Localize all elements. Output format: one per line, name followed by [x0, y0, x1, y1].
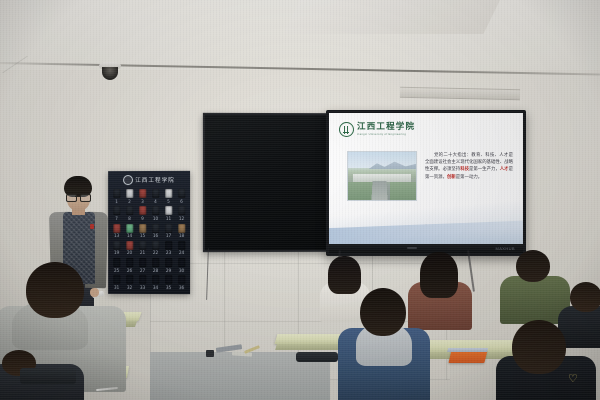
classroom-photo: 江西工程学院 Jiangxi University of Engineering… — [0, 0, 600, 400]
pocket-slot-4[interactable]: 4 — [149, 188, 162, 205]
pocket-number: 3 — [141, 200, 144, 204]
pocket-slot-3[interactable]: 3 — [136, 188, 149, 205]
stored-phone — [126, 241, 133, 250]
organizer-header: 江西工程学院 — [108, 171, 190, 188]
pocket-slot-19[interactable]: 19 — [110, 240, 123, 257]
stored-phone — [139, 206, 146, 215]
student-head — [26, 262, 84, 318]
stored-phone — [139, 189, 146, 198]
slide-text-lead: 党的二十大指出：教育、科 — [434, 153, 490, 158]
pocket-slot-14[interactable]: 14 — [123, 223, 136, 240]
pocket-slot-22[interactable]: 22 — [149, 240, 162, 257]
pocket-number: 35 — [166, 286, 171, 290]
pocket-number: 28 — [153, 269, 158, 273]
photo-central-road — [372, 181, 388, 200]
pocket-number: 34 — [153, 286, 158, 290]
slide-body-text: 党的二十大指出：教育、科技、人才是全面建设社会主义现代化国家的基础性、战略性支撑… — [425, 152, 513, 181]
stored-phone — [152, 241, 160, 250]
pocket-slot-7[interactable]: 7 — [110, 205, 123, 222]
stored-phone — [165, 276, 173, 285]
stored-phone — [178, 276, 186, 285]
pocket-number: 19 — [114, 251, 119, 255]
pocket-number: 11 — [166, 217, 171, 221]
pocket-slot-5[interactable]: 5 — [162, 188, 175, 205]
organizer-seal-icon — [123, 175, 133, 185]
stored-phone — [178, 241, 186, 250]
organizer-pocket-grid: 1234567891011121314151617181920212223242… — [108, 188, 190, 292]
ceiling-soffit — [283, 0, 500, 34]
student-bottom-right-heart: ♡ — [506, 320, 584, 400]
pocket-slot-15[interactable]: 15 — [136, 223, 149, 240]
slide-text-line5-end: 是第一动力。 — [456, 175, 482, 180]
heart-icon: ♡ — [568, 374, 579, 384]
pocket-slot-27[interactable]: 27 — [136, 257, 149, 274]
pocket-slot-20[interactable]: 20 — [123, 240, 136, 257]
pocket-slot-18[interactable]: 18 — [175, 223, 188, 240]
pocket-number: 6 — [180, 200, 183, 204]
stored-phone — [165, 241, 173, 250]
pocket-number: 7 — [115, 217, 118, 221]
stored-phone — [152, 224, 160, 233]
stored-phone — [152, 275, 160, 284]
instructor-lapel-badge — [90, 224, 94, 229]
orange-notebook[interactable] — [448, 350, 487, 363]
pocket-number: 18 — [179, 234, 184, 238]
pocket-number: 8 — [128, 217, 131, 221]
pocket-slot-13[interactable]: 13 — [110, 223, 123, 240]
pocket-number: 4 — [154, 200, 157, 204]
stored-phone — [178, 258, 186, 267]
pocket-slot-36[interactable]: 36 — [175, 275, 188, 292]
pocket-number: 2 — [128, 200, 131, 204]
pocket-slot-35[interactable]: 35 — [162, 275, 175, 292]
floor-adapter-box — [206, 350, 214, 357]
pocket-number: 33 — [140, 286, 145, 290]
pocket-slot-29[interactable]: 29 — [162, 257, 175, 274]
chair-front-left — [20, 368, 76, 384]
pocket-slot-24[interactable]: 24 — [175, 240, 188, 257]
pocket-number: 5 — [167, 200, 170, 204]
stored-phone — [139, 275, 146, 284]
pocket-slot-11[interactable]: 11 — [162, 205, 175, 222]
stored-phone — [178, 206, 186, 215]
pocket-number: 17 — [166, 234, 171, 238]
stored-phone — [139, 224, 146, 233]
student-head — [512, 320, 566, 374]
screen-surface[interactable]: 江西工程学院 Jiangxi University of Engineering… — [329, 113, 523, 244]
slide-university-logo: 江西工程学院 Jiangxi University of Engineering — [339, 122, 415, 137]
student-maroon-sweater-center — [412, 252, 468, 312]
student-olive-jacket-right — [506, 250, 562, 310]
pocket-slot-32[interactable]: 32 — [123, 274, 136, 291]
photo-lawn-left — [348, 182, 374, 200]
university-name-en: Jiangxi University of Engineering — [357, 133, 415, 136]
eyeglasses-icon — [66, 194, 91, 200]
slide-text-line4-mid: 是第一生产力， — [469, 167, 500, 172]
stored-phone — [165, 206, 173, 215]
camera-dome-lens — [102, 67, 118, 80]
university-name-cn: 江西工程学院 — [357, 123, 415, 132]
pocket-number: 14 — [127, 234, 132, 238]
pocket-slot-1[interactable]: 1 — [110, 188, 123, 205]
pocket-number: 23 — [166, 252, 171, 256]
stored-phone — [165, 189, 173, 198]
dome-security-camera — [99, 62, 121, 82]
pocket-slot-9[interactable]: 9 — [136, 205, 149, 222]
student-head — [516, 250, 550, 282]
stored-phone — [178, 224, 186, 233]
pocket-slot-12[interactable]: 12 — [175, 205, 188, 222]
photo-lawn-right — [390, 182, 416, 200]
chair-center — [296, 352, 338, 362]
stored-phone — [139, 241, 146, 250]
pocket-number: 10 — [153, 217, 158, 221]
pocket-slot-6[interactable]: 6 — [175, 188, 188, 205]
stored-phone — [126, 258, 133, 267]
stored-phone — [152, 189, 160, 198]
pocket-slot-26[interactable]: 26 — [123, 257, 136, 274]
pocket-slot-23[interactable]: 23 — [162, 240, 175, 257]
stored-phone — [126, 275, 133, 284]
stored-phone — [139, 258, 146, 267]
pocket-slot-17[interactable]: 17 — [162, 223, 175, 240]
pocket-slot-2[interactable]: 2 — [123, 188, 136, 205]
pocket-slot-30[interactable]: 30 — [175, 257, 188, 274]
stored-phone — [126, 224, 133, 233]
student-head — [360, 288, 406, 336]
slide-campus-photo — [347, 151, 417, 201]
pocket-slot-34[interactable]: 34 — [149, 274, 162, 291]
university-seal-icon — [339, 122, 354, 137]
pocket-number: 12 — [179, 217, 184, 221]
pocket-slot-33[interactable]: 33 — [136, 274, 149, 291]
pocket-number: 22 — [153, 251, 158, 255]
pocket-slot-8[interactable]: 8 — [123, 205, 136, 222]
pocket-slot-16[interactable]: 16 — [149, 223, 162, 240]
pocket-slot-21[interactable]: 21 — [136, 240, 149, 257]
stored-phone — [113, 189, 120, 198]
pocket-number: 32 — [127, 286, 132, 290]
pocket-number: 1 — [115, 200, 118, 204]
pocket-number: 30 — [179, 269, 184, 273]
student-hair — [420, 252, 458, 298]
stored-phone — [113, 241, 120, 250]
notebook-paper-edge — [447, 348, 488, 352]
organizer-university-name: 江西工程学院 — [135, 175, 175, 183]
stored-phone — [178, 189, 186, 198]
pocket-number: 9 — [141, 217, 144, 221]
slide-text-line4-pre: 必须坚持 — [443, 167, 461, 172]
stored-phone — [126, 206, 133, 215]
pocket-number: 13 — [114, 234, 119, 238]
interactive-flat-panel-display[interactable]: 江西工程学院 Jiangxi University of Engineering… — [326, 110, 526, 256]
stored-phone — [113, 206, 120, 215]
student-head — [570, 282, 600, 312]
phone-storage-pocket-board: 江西工程学院 123456789101112131415161718192021… — [108, 171, 190, 294]
pocket-number: 16 — [153, 234, 158, 238]
stored-phone — [152, 206, 160, 215]
stored-phone — [165, 258, 173, 267]
pocket-number: 29 — [166, 269, 171, 273]
stored-phone — [165, 224, 173, 233]
blackboard-panel — [203, 113, 332, 252]
slide-highlight-keji: 科技 — [460, 167, 469, 172]
pocket-number: 24 — [179, 252, 184, 256]
pocket-number: 20 — [127, 251, 132, 255]
slide-highlight-chuangxin: 创新 — [447, 175, 456, 180]
student-blue-hoodie-center — [352, 288, 414, 400]
display-power-button[interactable] — [407, 247, 417, 249]
pocket-slot-28[interactable]: 28 — [149, 257, 162, 274]
pocket-number: 27 — [140, 269, 145, 273]
stored-phone — [152, 258, 160, 267]
pocket-slot-10[interactable]: 10 — [149, 205, 162, 222]
pocket-number: 15 — [140, 234, 145, 238]
pocket-number: 21 — [140, 251, 145, 255]
stored-phone — [126, 189, 133, 198]
pocket-number: 36 — [179, 286, 184, 290]
stored-phone — [113, 224, 120, 233]
pocket-number: 26 — [127, 269, 132, 273]
